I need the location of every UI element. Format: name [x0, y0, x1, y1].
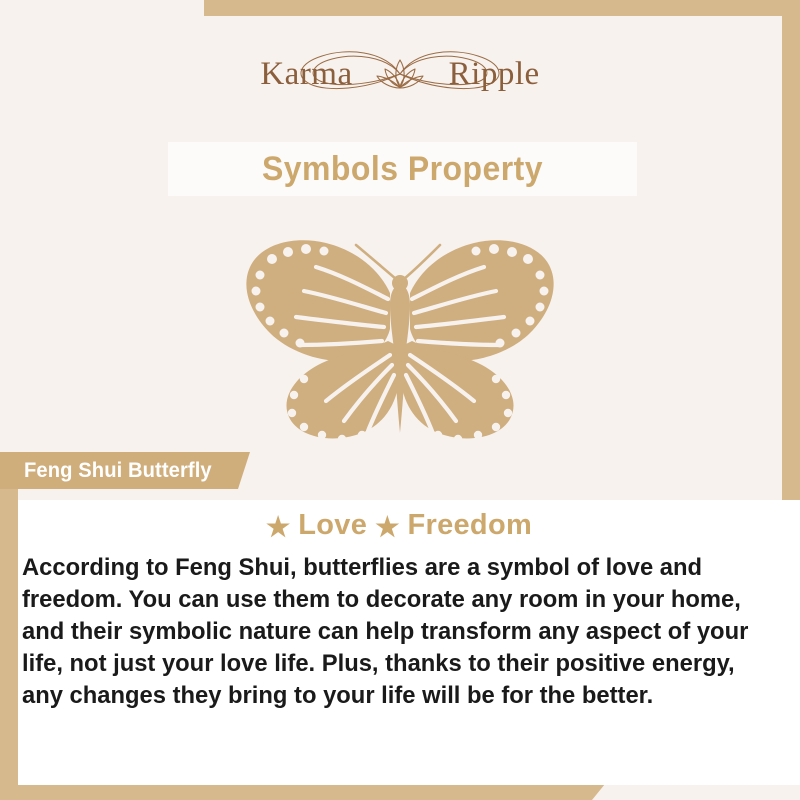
butterfly-illustration: [0, 228, 800, 458]
brand-logo: Karma Ripple: [0, 38, 800, 110]
content-panel: ★ Love ★ Freedom According to Feng Shui,…: [18, 500, 800, 785]
frame-strip-top: [204, 0, 800, 16]
butterfly-icon: [230, 233, 570, 453]
frame-strip-left: [0, 452, 18, 800]
lotus-icon: [373, 54, 427, 94]
brand-name-left: Karma: [260, 58, 352, 91]
title-band: Symbols Property: [168, 142, 637, 196]
star-icon-middle: ★: [375, 514, 399, 541]
ribbon-label: Feng Shui Butterfly: [0, 452, 250, 489]
content-subheading: ★ Love ★ Freedom: [18, 509, 780, 542]
brand-name-right: Ripple: [449, 58, 540, 91]
subheading-word-love: Love: [298, 509, 367, 541]
subheading-word-freedom: Freedom: [407, 509, 532, 541]
body-paragraph: According to Feng Shui, butterflies are …: [22, 552, 767, 712]
page-title: Symbols Property: [262, 150, 543, 189]
brand-logo-inner: Karma Ripple: [250, 38, 550, 110]
poster-canvas: Karma Ripple Symbols Property: [0, 0, 800, 800]
ribbon-label-text: Feng Shui Butterfly: [0, 459, 212, 483]
star-icon-left: ★: [266, 514, 290, 541]
